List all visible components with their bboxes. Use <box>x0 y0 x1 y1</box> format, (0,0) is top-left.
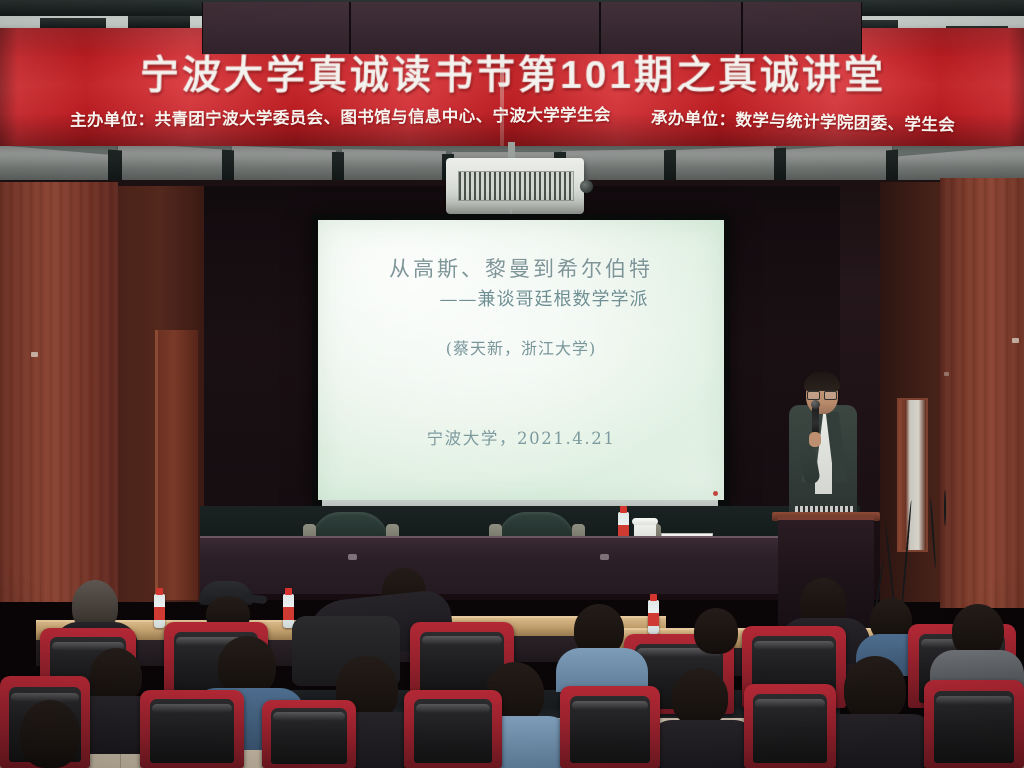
slide-title: 从高斯、黎曼到希尔伯特 <box>318 253 724 283</box>
bottle-cap <box>650 594 657 601</box>
seat-b5[interactable] <box>560 686 660 768</box>
stage-table-panel-4 <box>742 2 862 54</box>
stage-table-panel-3 <box>600 2 742 54</box>
stage-table <box>200 536 860 594</box>
cable-5 <box>944 490 946 526</box>
microphone-head <box>811 400 820 409</box>
banner-coorganizer: 承办单位：数学与统计学院团委、学生会 <box>651 104 956 135</box>
banner-subtitle-row: 主办单位：共青团宁波大学委员会、图书馆与信息中心、宁波大学学生会 承办单位：数学… <box>0 104 1024 128</box>
bottle-label <box>283 607 294 620</box>
microphone-icon[interactable] <box>812 405 819 435</box>
right-wall-screw <box>944 372 949 376</box>
left-wall-switch-plate[interactable] <box>31 352 38 357</box>
projector-lens <box>580 180 593 193</box>
stage-table-knob-1 <box>348 554 357 560</box>
screen-corner-marker <box>713 491 718 496</box>
audience-shoulders-b5 <box>648 720 758 768</box>
bottle-cap <box>156 588 163 595</box>
audience-bottle-2[interactable] <box>283 594 294 628</box>
seat-b3[interactable] <box>262 700 356 768</box>
seat-b2[interactable] <box>140 690 244 768</box>
bottle-cap <box>285 588 292 595</box>
stage-table-knob-2 <box>600 554 609 560</box>
seat-b4[interactable] <box>404 690 502 768</box>
audience-bottle-1[interactable] <box>154 594 165 628</box>
audience-head-b5 <box>672 668 728 726</box>
audience-head-b0 <box>20 700 80 768</box>
stage-table-panel-1 <box>202 2 350 54</box>
stage-table-panel-2 <box>350 2 600 54</box>
bottle-label <box>154 607 165 620</box>
slide-subtitle: ——兼谈哥廷根数学学派 <box>318 285 724 311</box>
projector-vent-grille <box>458 171 574 201</box>
lecture-hall-photo: 宁波大学真诚读书节第101期之真诚讲堂 主办单位：共青团宁波大学委员会、图书馆与… <box>0 0 1024 768</box>
audience-head-b2 <box>218 636 276 696</box>
seat-b6[interactable] <box>744 684 836 768</box>
bottle-cap <box>620 506 627 513</box>
seat-b7[interactable] <box>924 680 1024 768</box>
left-wall-wood <box>0 182 118 602</box>
projection-screen: 从高斯、黎曼到希尔伯特 ——兼谈哥廷根数学学派 (蔡天新，浙江大学) 宁波大学，… <box>318 220 724 500</box>
glasses-icon <box>807 390 837 398</box>
banner-organizer: 主办单位：共青团宁波大学委员会、图书馆与信息中心、宁波大学学生会 <box>70 101 611 131</box>
tea-cup-lid <box>632 518 658 525</box>
left-door[interactable] <box>155 330 198 600</box>
speaker-hand <box>809 432 821 447</box>
speaker-hair <box>804 372 840 391</box>
ceiling-projector <box>446 158 584 214</box>
right-wall-switch-plate[interactable] <box>1012 338 1019 343</box>
cap-brim <box>245 594 268 604</box>
audience-head-a2 <box>694 608 738 654</box>
audience-bottle-3[interactable] <box>648 600 659 634</box>
audience-head-b6 <box>844 656 906 722</box>
bottle-label <box>648 613 659 626</box>
right-wall-wood <box>940 178 1024 608</box>
slide-author: (蔡天新，浙江大学) <box>318 335 724 359</box>
slide-footer: 宁波大学，2021.4.21 <box>318 425 724 449</box>
right-doorway[interactable] <box>897 398 928 552</box>
